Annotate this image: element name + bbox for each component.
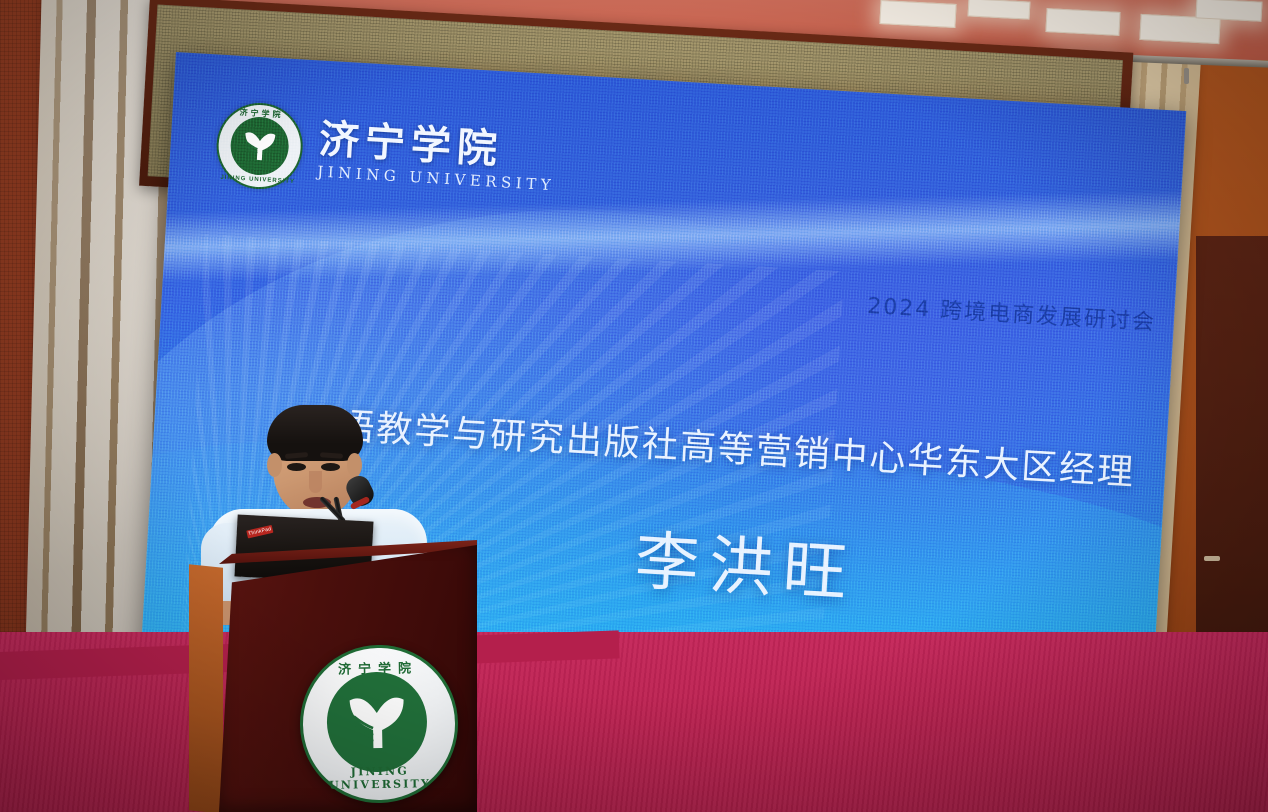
speaker-eye-left: [287, 463, 306, 471]
laptop-brand-logo: ThinkPad: [246, 525, 273, 539]
screen-diagonal-band: [136, 188, 1187, 284]
ceiling-light-5: [1196, 0, 1263, 22]
conference-photo-scene: 2024跨境电商发展研讨会 济宁学院 JINING UNI: [0, 0, 1268, 812]
speaker-hair: [267, 405, 363, 461]
speaker-ear-left: [267, 453, 282, 477]
screen-logo-wordmark: 济宁学院 JINING UNIVERSITY: [317, 120, 558, 194]
podium-university-seal-icon: 济宁学院 JINING UNIVERSITY: [299, 644, 460, 805]
jining-university-seal-icon: 济宁学院 JINING UNIVERSITY: [214, 101, 305, 192]
seal-english-arc-text: JINING UNIVERSITY: [217, 175, 299, 186]
screen-corner-subtitle: 2024 跨境电商发展研讨会: [867, 288, 1157, 337]
podium-side-panel: [189, 564, 223, 812]
screen-speaker-name: 李洪旺: [633, 510, 860, 615]
ceiling-light-3: [1045, 8, 1120, 36]
podium-seal-leaf-icon: [342, 687, 411, 756]
podium-seal-english-text: JINING UNIVERSITY: [304, 764, 456, 793]
speaker-ear-right: [347, 453, 362, 477]
speaker-nose: [309, 471, 322, 493]
door-handle-icon[interactable]: [1204, 556, 1220, 561]
ceiling-light-1: [879, 0, 956, 28]
speaker-eye-right: [321, 463, 340, 471]
screen-university-logo: 济宁学院 JINING UNIVERSITY 济宁学院 JINING UNIVE…: [214, 101, 559, 207]
seal-leaf-icon: [240, 126, 280, 166]
ceiling-light-2: [968, 0, 1031, 20]
curtain-rail-hook-6: [1184, 68, 1189, 84]
